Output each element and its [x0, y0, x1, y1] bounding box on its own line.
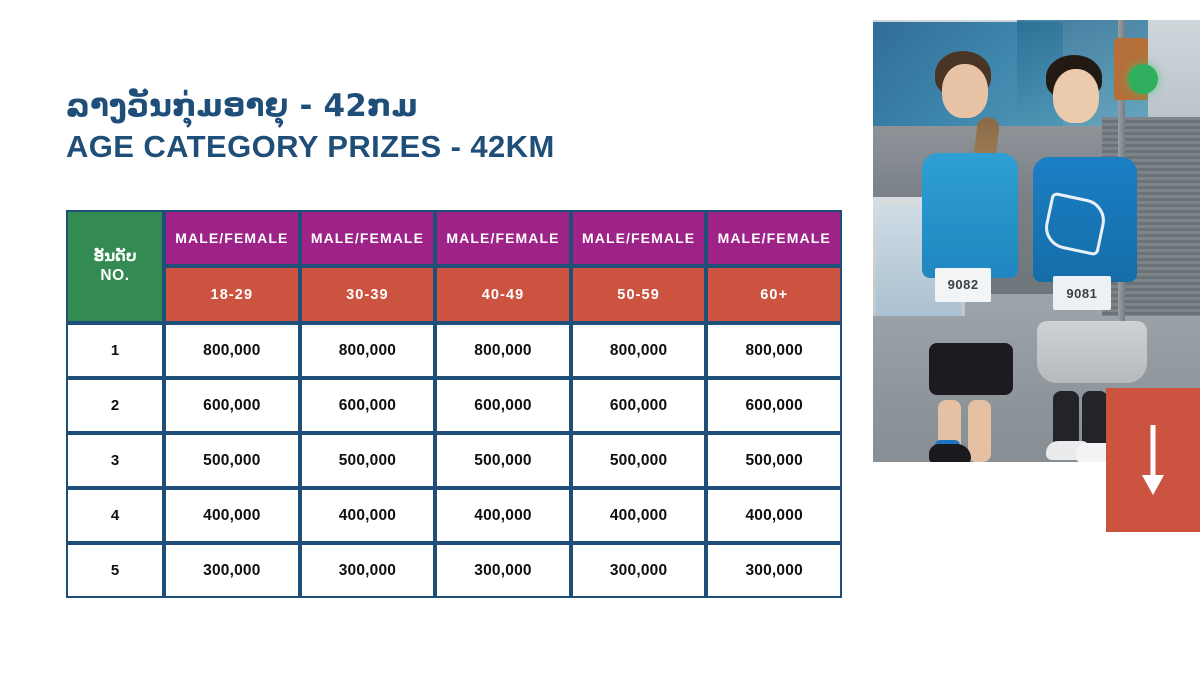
- runner-b-head: [1053, 69, 1099, 123]
- table-header-row-age: 18-29 30-39 40-49 50-59 60+: [66, 266, 842, 323]
- header-gender-5: MALE/FEMALE: [706, 210, 842, 266]
- prize-cell: 500,000: [706, 433, 842, 488]
- slide-canvas: ລາງວັນກຸ່ມອາຍຸ - 42ກມ AGE CATEGORY PRIZE…: [0, 0, 1200, 675]
- prize-cell: 400,000: [164, 488, 300, 543]
- table-row: 4 400,000 400,000 400,000 400,000 400,00…: [66, 488, 842, 543]
- prize-cell: 400,000: [300, 488, 436, 543]
- table-header-row-gender: ອັນດັບ NO. MALE/FEMALE MALE/FEMALE MALE/…: [66, 210, 842, 266]
- prize-cell: 400,000: [571, 488, 707, 543]
- header-age-group-5: 60+: [706, 266, 842, 323]
- prize-cell: 600,000: [164, 378, 300, 433]
- rank-cell: 3: [66, 433, 164, 488]
- page-title-english: AGE CATEGORY PRIZES - 42KM: [66, 129, 806, 166]
- runner-b-bib-number: 9081: [1053, 276, 1111, 310]
- prize-cell: 300,000: [435, 543, 571, 598]
- prize-cell: 500,000: [571, 433, 707, 488]
- runner-a-bib-number: 9082: [935, 268, 991, 302]
- prize-cell: 800,000: [706, 323, 842, 378]
- traffic-light-green-icon: [1128, 64, 1158, 94]
- runner-b-jacket: [1037, 321, 1147, 383]
- header-gender-4: MALE/FEMALE: [571, 210, 707, 266]
- prize-cell: 600,000: [571, 378, 707, 433]
- header-gender-2: MALE/FEMALE: [300, 210, 436, 266]
- prize-cell: 600,000: [706, 378, 842, 433]
- rank-cell: 1: [66, 323, 164, 378]
- header-gender-1: MALE/FEMALE: [164, 210, 300, 266]
- prize-cell: 800,000: [435, 323, 571, 378]
- prize-cell: 400,000: [435, 488, 571, 543]
- header-rank-english: NO.: [68, 266, 162, 287]
- prize-cell: 500,000: [435, 433, 571, 488]
- page-title-lao: ລາງວັນກຸ່ມອາຍຸ - 42ກມ: [66, 88, 806, 125]
- header-rank-lao: ອັນດັບ: [68, 246, 162, 266]
- prize-cell: 300,000: [706, 543, 842, 598]
- rank-cell: 4: [66, 488, 164, 543]
- prize-cell: 600,000: [435, 378, 571, 433]
- prize-cell: 500,000: [164, 433, 300, 488]
- prize-cell: 300,000: [571, 543, 707, 598]
- rank-cell: 2: [66, 378, 164, 433]
- prize-cell: 300,000: [164, 543, 300, 598]
- prize-cell: 300,000: [300, 543, 436, 598]
- prize-cell: 400,000: [706, 488, 842, 543]
- table-row: 2 600,000 600,000 600,000 600,000 600,00…: [66, 378, 842, 433]
- rank-cell: 5: [66, 543, 164, 598]
- next-slide-block[interactable]: [1106, 388, 1200, 532]
- prize-table-container: ອັນດັບ NO. MALE/FEMALE MALE/FEMALE MALE/…: [66, 210, 842, 598]
- table-header: ອັນດັບ NO. MALE/FEMALE MALE/FEMALE MALE/…: [66, 210, 842, 323]
- runner-a-shoe: [929, 444, 971, 462]
- prize-cell: 500,000: [300, 433, 436, 488]
- runner-a-head: [942, 64, 988, 118]
- table-row: 3 500,000 500,000 500,000 500,000 500,00…: [66, 433, 842, 488]
- prize-cell: 800,000: [300, 323, 436, 378]
- table-row: 1 800,000 800,000 800,000 800,000 800,00…: [66, 323, 842, 378]
- header-age-group-3: 40-49: [435, 266, 571, 323]
- header-rank: ອັນດັບ NO.: [66, 210, 164, 323]
- prize-cell: 800,000: [571, 323, 707, 378]
- header-gender-3: MALE/FEMALE: [435, 210, 571, 266]
- table-row: 5 300,000 300,000 300,000 300,000 300,00…: [66, 543, 842, 598]
- prize-cell: 600,000: [300, 378, 436, 433]
- arrow-down-icon: [1140, 423, 1166, 497]
- runner-a-shorts: [929, 343, 1013, 395]
- table-body: 1 800,000 800,000 800,000 800,000 800,00…: [66, 323, 842, 598]
- header-age-group-2: 30-39: [300, 266, 436, 323]
- prize-cell: 800,000: [164, 323, 300, 378]
- runner-a-leg-right: [968, 400, 991, 462]
- prize-table: ອັນດັບ NO. MALE/FEMALE MALE/FEMALE MALE/…: [66, 210, 842, 598]
- header-age-group-1: 18-29: [164, 266, 300, 323]
- page-title: ລາງວັນກຸ່ມອາຍຸ - 42ກມ AGE CATEGORY PRIZE…: [66, 88, 806, 165]
- header-age-group-4: 50-59: [571, 266, 707, 323]
- runner-a-shirt: [922, 153, 1018, 278]
